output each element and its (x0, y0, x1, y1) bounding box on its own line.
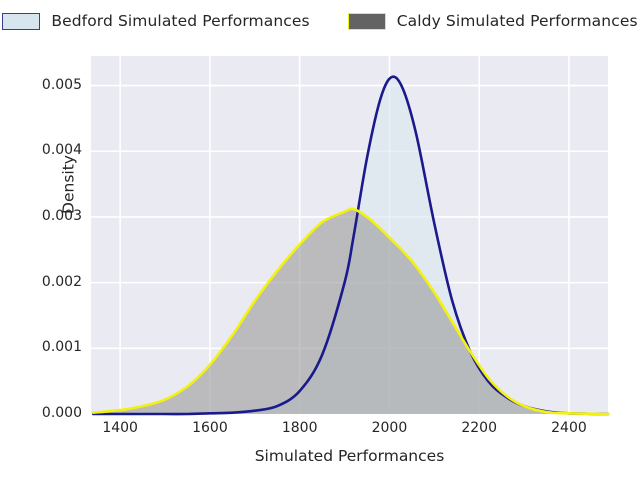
legend-label-bedford: Bedford Simulated Performances (51, 12, 309, 30)
x-tick-label: 2000 (369, 420, 409, 436)
legend: Bedford Simulated Performances Caldy Sim… (0, 12, 640, 30)
x-tick-label: 1600 (190, 420, 230, 436)
y-tick-label: 0.001 (34, 339, 82, 355)
y-tick-label: 0.000 (34, 405, 82, 421)
legend-entry-bedford[interactable]: Bedford Simulated Performances (2, 12, 309, 30)
caldy-swatch-icon (348, 13, 386, 30)
x-tick-label: 2200 (459, 420, 499, 436)
legend-entry-caldy[interactable]: Caldy Simulated Performances (348, 12, 638, 30)
y-tick-label: 0.002 (34, 274, 82, 290)
figure: Bedford Simulated Performances Caldy Sim… (0, 0, 640, 480)
x-axis-label-text: Simulated Performances (255, 447, 445, 465)
y-axis-label-text: Density (60, 155, 78, 214)
bedford-swatch-icon (2, 13, 40, 30)
plot-canvas (0, 0, 640, 480)
legend-label-caldy: Caldy Simulated Performances (397, 12, 638, 30)
x-tick-label: 1800 (280, 420, 320, 436)
x-tick-label: 2400 (549, 420, 589, 436)
x-axis-label: Simulated Performances (91, 446, 608, 465)
y-tick-label: 0.005 (34, 77, 82, 93)
x-tick-label: 1400 (100, 420, 140, 436)
y-axis-label: Density (59, 115, 78, 255)
